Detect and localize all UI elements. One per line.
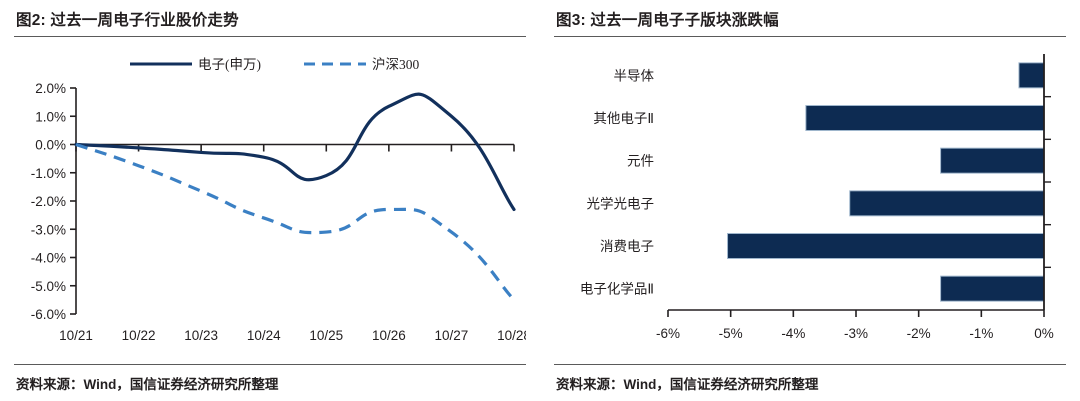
x-tick-label: 10/24: [247, 328, 281, 343]
figure-3-bottom-rule: [554, 364, 1066, 365]
y-tick-label: -4.0%: [31, 251, 66, 266]
figure-3-source: 资料来源：Wind，国信证券经济研究所整理: [556, 373, 818, 393]
x-tick-label: 10/28: [497, 328, 526, 343]
bar-category-label: 消费电子: [600, 239, 654, 254]
bar-category-label: 光学光电子: [587, 196, 655, 211]
bar: [941, 148, 1044, 173]
bar-chart-container: 半导体其他电子Ⅱ元件光学光电子消费电子电子化学品Ⅱ -6%-5%-4%-3%-2…: [554, 42, 1066, 354]
bar-category-label: 元件: [627, 154, 654, 169]
y-tick-label: 0.0%: [35, 138, 66, 153]
figure-3-title: 图3: 过去一周电子子版块涨跌幅: [554, 0, 1066, 33]
y-tick-label: -2.0%: [31, 194, 66, 209]
bar-x-tick-label: -2%: [907, 326, 931, 341]
y-tick-label: -1.0%: [31, 166, 66, 181]
y-tick-label: 1.0%: [35, 109, 66, 124]
figure-3-panel: 图3: 过去一周电子子版块涨跌幅 半导体其他电子Ⅱ元件光学光电子消费电子电子化学…: [540, 0, 1080, 401]
y-axis: 2.0%1.0%0.0%-1.0%-2.0%-3.0%-4.0%-5.0%-6.…: [31, 81, 76, 322]
legend-label-electronics: 电子(申万): [198, 57, 261, 72]
y-tick-label: -6.0%: [31, 307, 66, 322]
figure-2-title: 图2: 过去一周电子行业股价走势: [14, 0, 526, 33]
bar-category-label: 半导体: [614, 68, 655, 83]
bar-x-axis: -6%-5%-4%-3%-2%-1%0%: [656, 97, 1054, 341]
bar-x-tick-label: 0%: [1034, 326, 1054, 341]
x-axis: 10/2110/2210/2310/2410/2510/2610/2710/28: [59, 145, 526, 344]
bar: [941, 276, 1044, 301]
x-tick-label: 10/21: [59, 328, 93, 343]
x-tick-label: 10/22: [122, 328, 156, 343]
chart-legend: 电子(申万) 沪深300: [130, 57, 419, 72]
bar: [806, 106, 1044, 131]
x-tick-label: 10/23: [184, 328, 218, 343]
bar-category-label: 其他电子Ⅱ: [593, 111, 654, 126]
bar: [728, 234, 1044, 259]
bar-category-label: 电子化学品Ⅱ: [580, 282, 654, 297]
y-tick-label: -5.0%: [31, 279, 66, 294]
legend-label-csi300: 沪深300: [372, 57, 419, 72]
x-tick-label: 10/25: [309, 328, 343, 343]
figure-2-bottom-rule: [14, 364, 526, 365]
bar-x-tick-label: -4%: [781, 326, 805, 341]
bar-x-tick-label: -1%: [969, 326, 993, 341]
figure-page: 图2: 过去一周电子行业股价走势 电子(申万) 沪深300 2.0%1.0%0.…: [0, 0, 1080, 401]
stock-trend-line-chart: 电子(申万) 沪深300 2.0%1.0%0.0%-1.0%-2.0%-3.0%…: [14, 42, 526, 354]
bar: [850, 191, 1044, 216]
line-chart-container: 电子(申万) 沪深300 2.0%1.0%0.0%-1.0%-2.0%-3.0%…: [14, 42, 526, 354]
y-tick-label: -3.0%: [31, 222, 66, 237]
bar: [1019, 63, 1044, 88]
x-tick-label: 10/27: [435, 328, 469, 343]
bar-x-tick-label: -6%: [656, 326, 680, 341]
bar-category-labels: 半导体其他电子Ⅱ元件光学光电子消费电子电子化学品Ⅱ: [580, 68, 655, 296]
series-line-electronics: [76, 94, 514, 209]
y-tick-label: 2.0%: [35, 81, 66, 96]
x-tick-label: 10/26: [372, 328, 406, 343]
series-line-csi300: [76, 145, 514, 300]
bar-x-tick-label: -5%: [719, 326, 743, 341]
figure-2-top-rule: [14, 36, 526, 37]
bars: [728, 63, 1044, 301]
figure-2-source: 资料来源：Wind，国信证券经济研究所整理: [16, 373, 278, 393]
figure-2-panel: 图2: 过去一周电子行业股价走势 电子(申万) 沪深300 2.0%1.0%0.…: [0, 0, 540, 401]
subsector-change-bar-chart: 半导体其他电子Ⅱ元件光学光电子消费电子电子化学品Ⅱ -6%-5%-4%-3%-2…: [554, 42, 1066, 354]
bar-x-tick-label: -3%: [844, 326, 868, 341]
figure-3-top-rule: [554, 36, 1066, 37]
